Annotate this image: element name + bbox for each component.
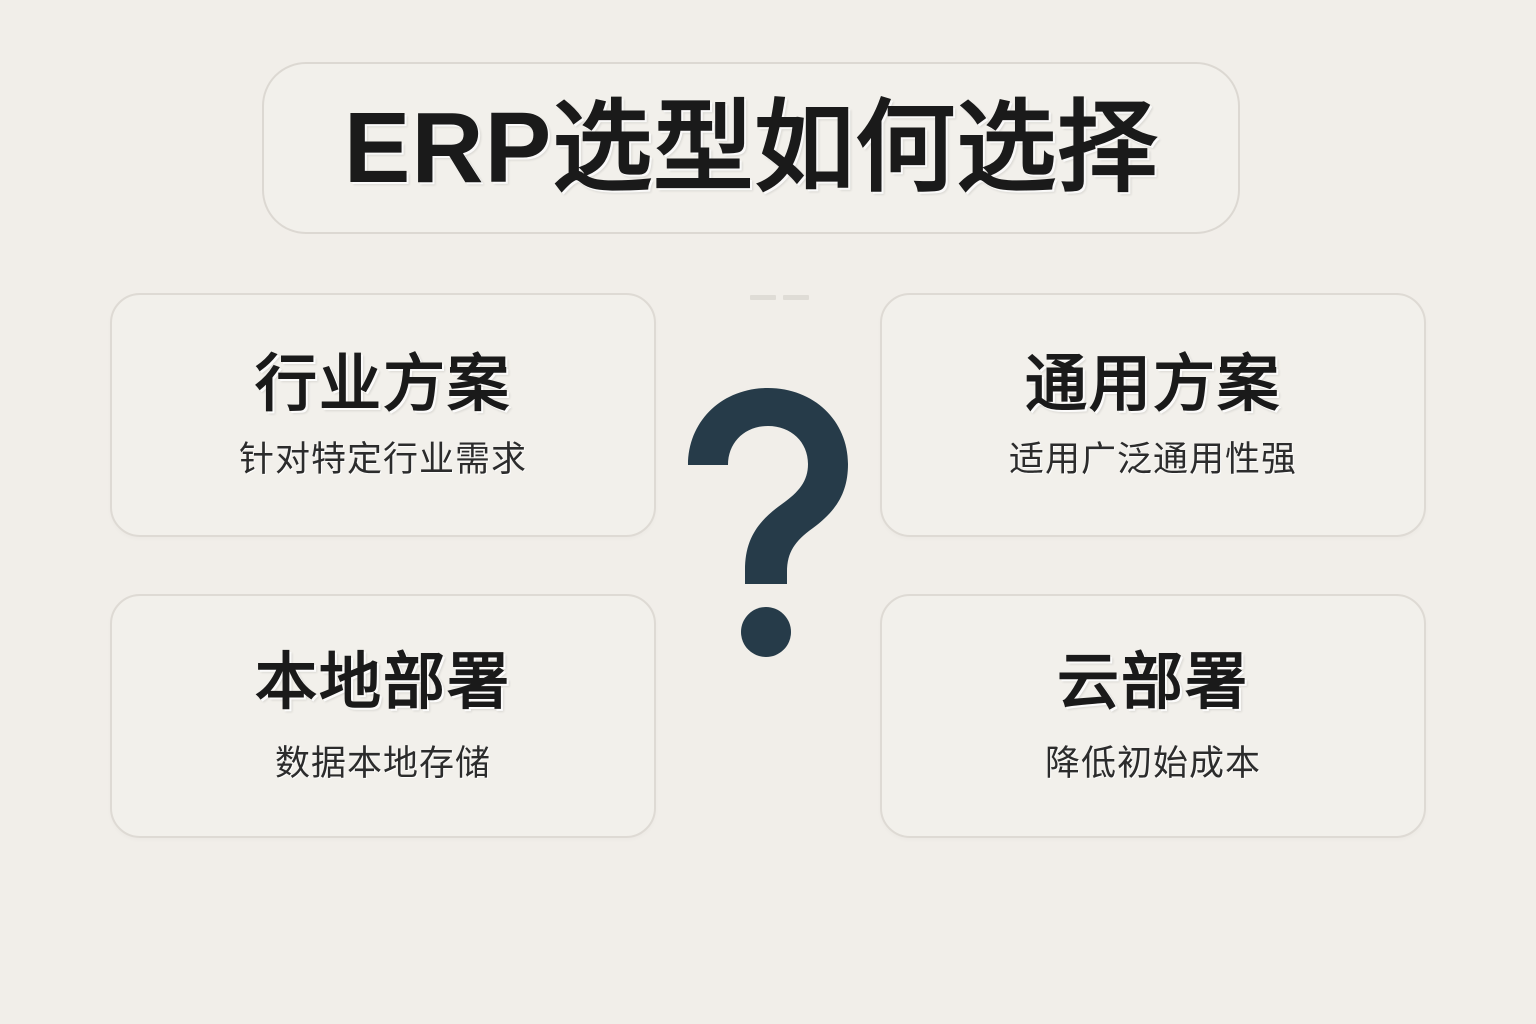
page-title-box: ERP选型如何选择: [262, 62, 1240, 234]
artifact-dash-right: [783, 295, 809, 300]
question-mark-glyph: [668, 382, 868, 662]
option-card-on-premise-deployment[interactable]: 本地部署 数据本地存储: [110, 594, 656, 838]
card-subtitle: 适用广泛通用性强: [1009, 442, 1297, 477]
card-title: 本地部署: [255, 652, 511, 714]
artifact-dash-left: [750, 295, 776, 300]
card-subtitle: 数据本地存储: [275, 746, 491, 781]
option-card-general-solution[interactable]: 通用方案 适用广泛通用性强: [880, 293, 1426, 537]
question-mark-icon: [668, 382, 868, 662]
infographic-canvas: ERP选型如何选择 行业方案 针对特定行业需求 通用方案 适用广泛通用性强 本地…: [0, 0, 1536, 1024]
option-card-industry-solution[interactable]: 行业方案 针对特定行业需求: [110, 293, 656, 537]
card-title: 云部署: [1057, 652, 1249, 714]
card-subtitle: 针对特定行业需求: [239, 442, 527, 477]
card-subtitle: 降低初始成本: [1045, 746, 1261, 781]
card-title: 通用方案: [1025, 354, 1281, 416]
card-title: 行业方案: [255, 354, 511, 416]
page-title: ERP选型如何选择: [344, 98, 1159, 198]
option-card-cloud-deployment[interactable]: 云部署 降低初始成本: [880, 594, 1426, 838]
